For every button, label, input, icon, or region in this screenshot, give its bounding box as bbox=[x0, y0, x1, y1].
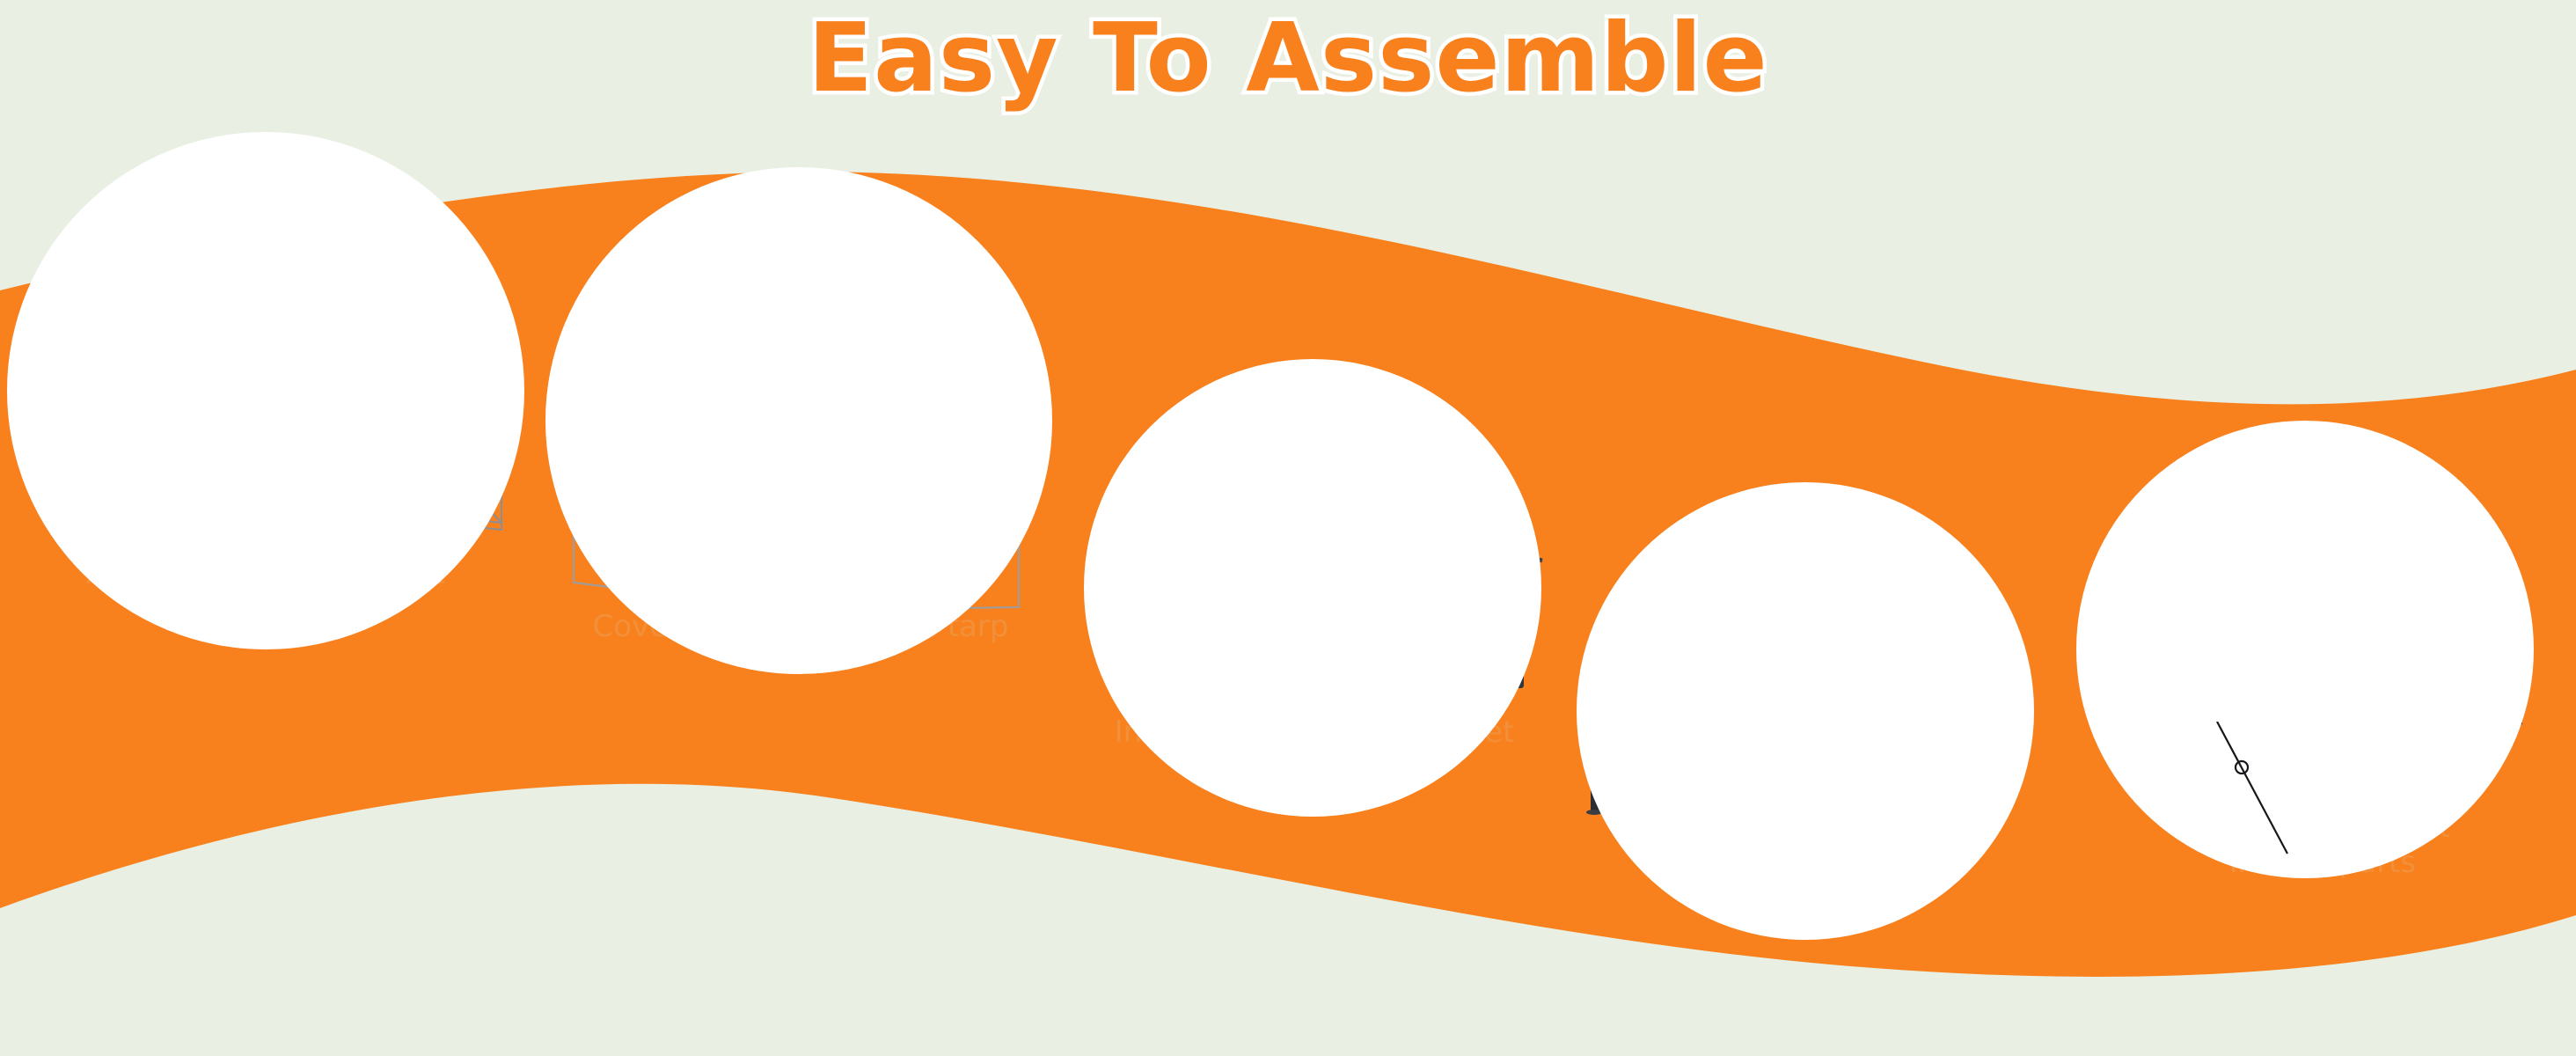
infographic-canvas: Easy To Assemble bbox=[0, 0, 2576, 1056]
step-circle-5 bbox=[2076, 421, 2534, 878]
step-circle-2 bbox=[545, 167, 1052, 674]
step-circle-1 bbox=[7, 132, 524, 649]
page-title: Easy To Assemble bbox=[0, 4, 2576, 114]
step-circle-3 bbox=[1084, 359, 1541, 817]
step-circle-4 bbox=[1577, 482, 2034, 940]
